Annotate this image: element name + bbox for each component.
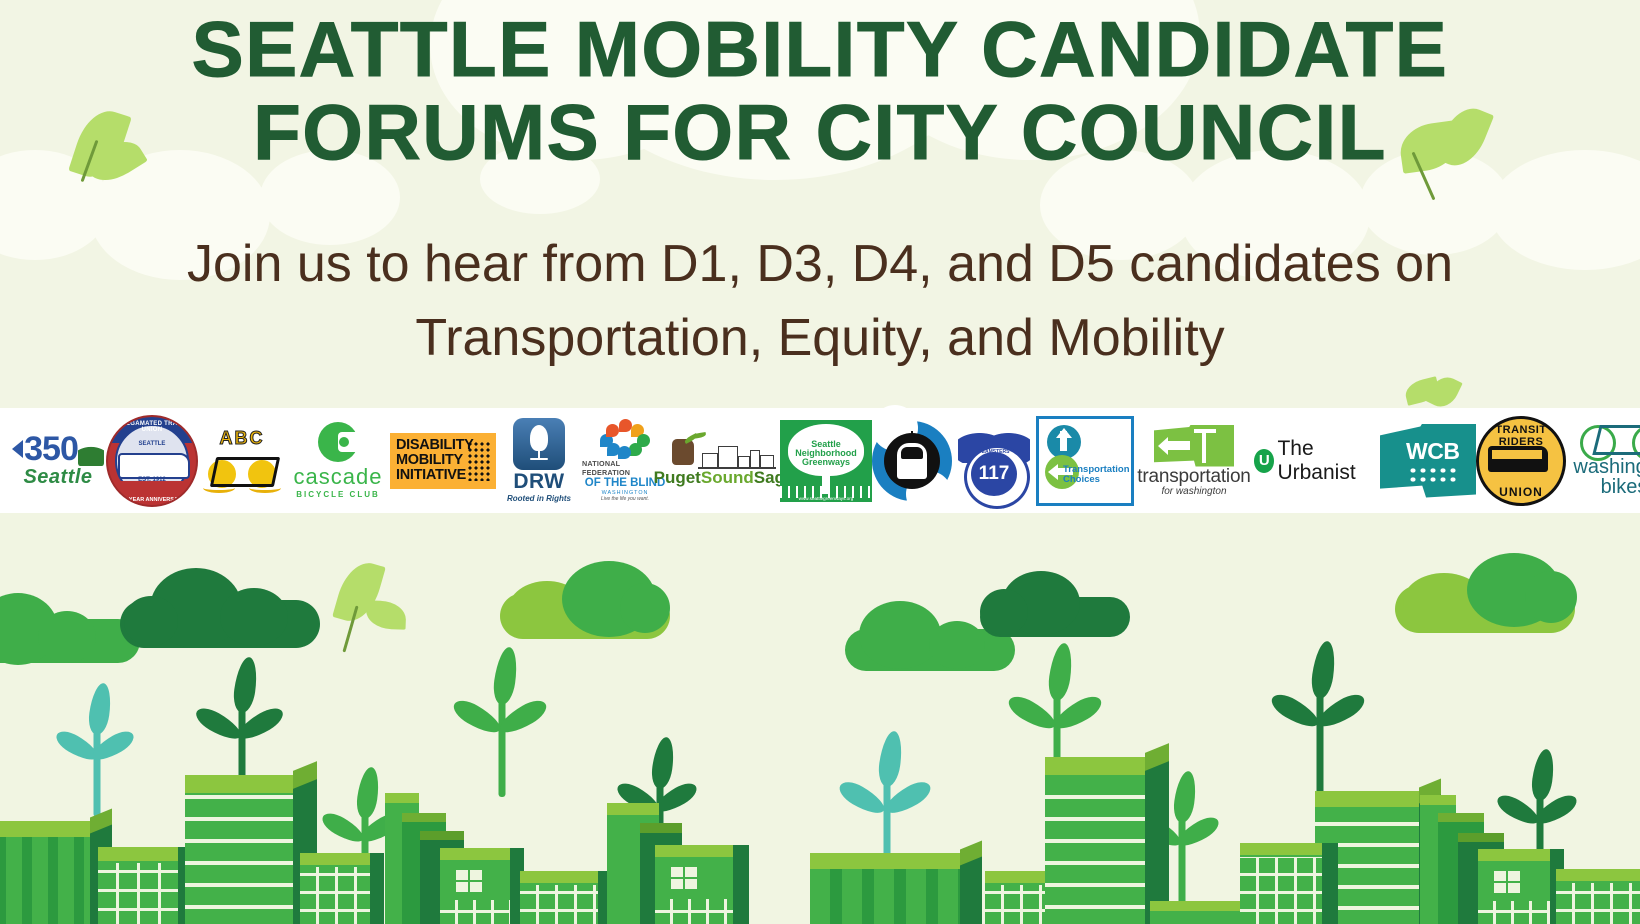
- sng-tree-icon: Seattle Neighborhood Greenways www.seatt…: [780, 420, 872, 502]
- bus-icon: [118, 453, 190, 479]
- train-circle-icon: [872, 421, 952, 501]
- logo-washington-council-of-the-blind: WCB: [1380, 424, 1476, 498]
- tcc-line-2: Choices: [1063, 475, 1129, 486]
- logo-the-urbanist: U The Urbanist: [1254, 437, 1380, 485]
- drw-tagline: Rooted in Rights: [507, 494, 571, 503]
- wcb-word: WCB: [1406, 438, 1459, 465]
- pss-wordmark: PugetSoundSage: [654, 469, 795, 486]
- cascade-c-icon: [318, 422, 358, 462]
- wind-turbine-4: [465, 653, 539, 793]
- urbanist-u-icon: U: [1254, 449, 1274, 473]
- wbk-line-1: washington: [1573, 457, 1640, 477]
- tfw-subtitle: for washington: [1161, 486, 1226, 497]
- building-15: [1045, 757, 1145, 924]
- title-line-1: SEATTLE MOBILITY CANDIDATE: [0, 8, 1640, 91]
- atu-arc-top: AMALGAMATED TRANSIT UNION: [108, 421, 196, 433]
- atu-roundel-icon: AMALGAMATED TRANSIT UNION SEATTLE EST. 1…: [106, 415, 198, 507]
- wind-turbine-9: [1283, 647, 1357, 797]
- cloud-5: [980, 571, 1130, 637]
- sng-line-3: Greenways: [780, 458, 872, 467]
- building-2: [98, 847, 178, 924]
- logo-puget-sound-sage: PugetSoundSage: [668, 435, 780, 486]
- building-12: [655, 845, 733, 924]
- wcb-state-icon: WCB: [1380, 424, 1476, 498]
- teamsters-horses-icon: TEAMSTERS 117: [952, 419, 1036, 503]
- leaf-decoration-subtitle: [1405, 370, 1465, 408]
- tfw-word: transportation: [1137, 467, 1250, 486]
- pss-word-1: Puget: [654, 468, 701, 487]
- atu-anniversary: 110 YEAR ANNIVERSARY: [108, 497, 196, 503]
- logo-transportation-for-washington: transportation for washington: [1134, 425, 1254, 497]
- logo-national-federation-of-the-blind: NATIONAL FEDERATION OF THE BLIND WASHING…: [582, 419, 668, 501]
- braille-dots-icon: [1408, 466, 1460, 482]
- logo-350-number: 350: [24, 432, 78, 466]
- page-subtitle: Join us to hear from D1, D3, D4, and D5 …: [0, 228, 1640, 376]
- nfb-burst-icon: [598, 419, 652, 459]
- evergreen-trees-icon: [78, 432, 104, 466]
- logo-disability-rights-washington: DRW Rooted in Rights: [496, 418, 582, 502]
- transportation-choices-icon: Transportation Choices: [1036, 416, 1134, 506]
- dot-pattern-icon: [467, 441, 491, 481]
- logo-disability-mobility-initiative: DISABILITY MOBILITY INITIATIVE: [390, 433, 496, 489]
- dmi-line-2: MOBILITY: [396, 453, 463, 468]
- logo-abc-bicycle: ABC: [198, 428, 286, 493]
- cloud-1: [0, 593, 140, 663]
- nfb-line-4: Live the life you want.: [601, 496, 649, 502]
- dmi-line-1: DISABILITY: [396, 438, 474, 453]
- logo-transit-circle: [872, 421, 952, 501]
- logo-transit-riders-union: TRANSIT RIDERS UNION: [1476, 416, 1566, 506]
- logo-teamsters-117: TEAMSTERS 117: [952, 419, 1036, 503]
- pss-word-2: Sound: [701, 468, 754, 487]
- teamsters-local-number: 117: [971, 463, 1017, 485]
- header-section: SEATTLE MOBILITY CANDIDATE FORUMS FOR CI…: [0, 0, 1640, 408]
- dmi-line-3: INITIATIVE: [396, 468, 466, 483]
- title-line-2: FORUMS FOR CITY COUNCIL: [0, 91, 1640, 174]
- tru-arc-bottom: UNION: [1479, 485, 1563, 499]
- sng-text-block: Seattle Neighborhood Greenways: [780, 440, 872, 468]
- bicycle-icon: [203, 451, 281, 493]
- bicycle-icon-wa: [1580, 423, 1640, 457]
- cascade-subtitle: BICYCLE CLUB: [296, 490, 380, 499]
- page-title: SEATTLE MOBILITY CANDIDATE FORUMS FOR CI…: [0, 8, 1640, 175]
- building-13: [810, 853, 960, 924]
- logo-washington-bikes: washington bikes: [1566, 423, 1640, 498]
- tru-arc-top: TRANSIT RIDERS: [1479, 424, 1563, 448]
- washington-state-arrow-icon: [1154, 425, 1234, 467]
- wbk-line-2: bikes: [1601, 477, 1640, 498]
- arrow-left-icon: [12, 440, 23, 458]
- abc-letters: ABC: [220, 428, 265, 449]
- building-9: [520, 871, 598, 924]
- logo-seattle-neighborhood-greenways: Seattle Neighborhood Greenways www.seatt…: [780, 420, 872, 502]
- subtitle-line-1: Join us to hear from D1, D3, D4, and D5 …: [0, 228, 1640, 302]
- building-4: [300, 853, 370, 924]
- wind-turbine-2: [205, 661, 279, 791]
- drw-tree-icon: [513, 418, 565, 470]
- cloud-2: [120, 568, 320, 648]
- logo-transportation-choices: Transportation Choices: [1036, 416, 1134, 506]
- fist-and-skyline-icon: [670, 435, 778, 469]
- leaf-decoration-scene: [340, 561, 420, 661]
- logo-350-seattle: 350 Seattle: [10, 432, 106, 489]
- subtitle-line-2: Transportation, Equity, and Mobility: [0, 302, 1640, 376]
- logo-amalgamated-transit-union: AMALGAMATED TRANSIT UNION SEATTLE EST. 1…: [106, 415, 198, 507]
- cloud-6: [1395, 553, 1575, 633]
- building-21: [1478, 849, 1550, 924]
- poster: SEATTLE MOBILITY CANDIDATE FORUMS FOR CI…: [0, 0, 1640, 924]
- atu-city: SEATTLE: [108, 441, 196, 447]
- sponsor-logo-strip: 350 Seattle AMALGAMATED TRANSIT UNION SE…: [0, 408, 1640, 513]
- urbanist-word: The Urbanist: [1277, 437, 1380, 485]
- tru-bus-badge-icon: TRANSIT RIDERS UNION: [1476, 416, 1566, 506]
- logo-cascade-bicycle-club: cascade BICYCLE CLUB: [286, 422, 390, 499]
- drw-word: DRW: [513, 470, 564, 493]
- building-1: [0, 821, 90, 924]
- wind-turbine-1: [62, 687, 132, 817]
- building-3: [185, 775, 293, 924]
- building-8: [440, 848, 510, 924]
- eco-city-illustration: [0, 513, 1640, 924]
- building-23: [1240, 843, 1322, 924]
- sng-url: www.seattlegreenways.org: [780, 496, 872, 501]
- cloud-3: [500, 561, 670, 639]
- logo-350-word: Seattle: [23, 466, 92, 489]
- building-22: [1556, 869, 1640, 924]
- cascade-word: cascade: [294, 464, 383, 490]
